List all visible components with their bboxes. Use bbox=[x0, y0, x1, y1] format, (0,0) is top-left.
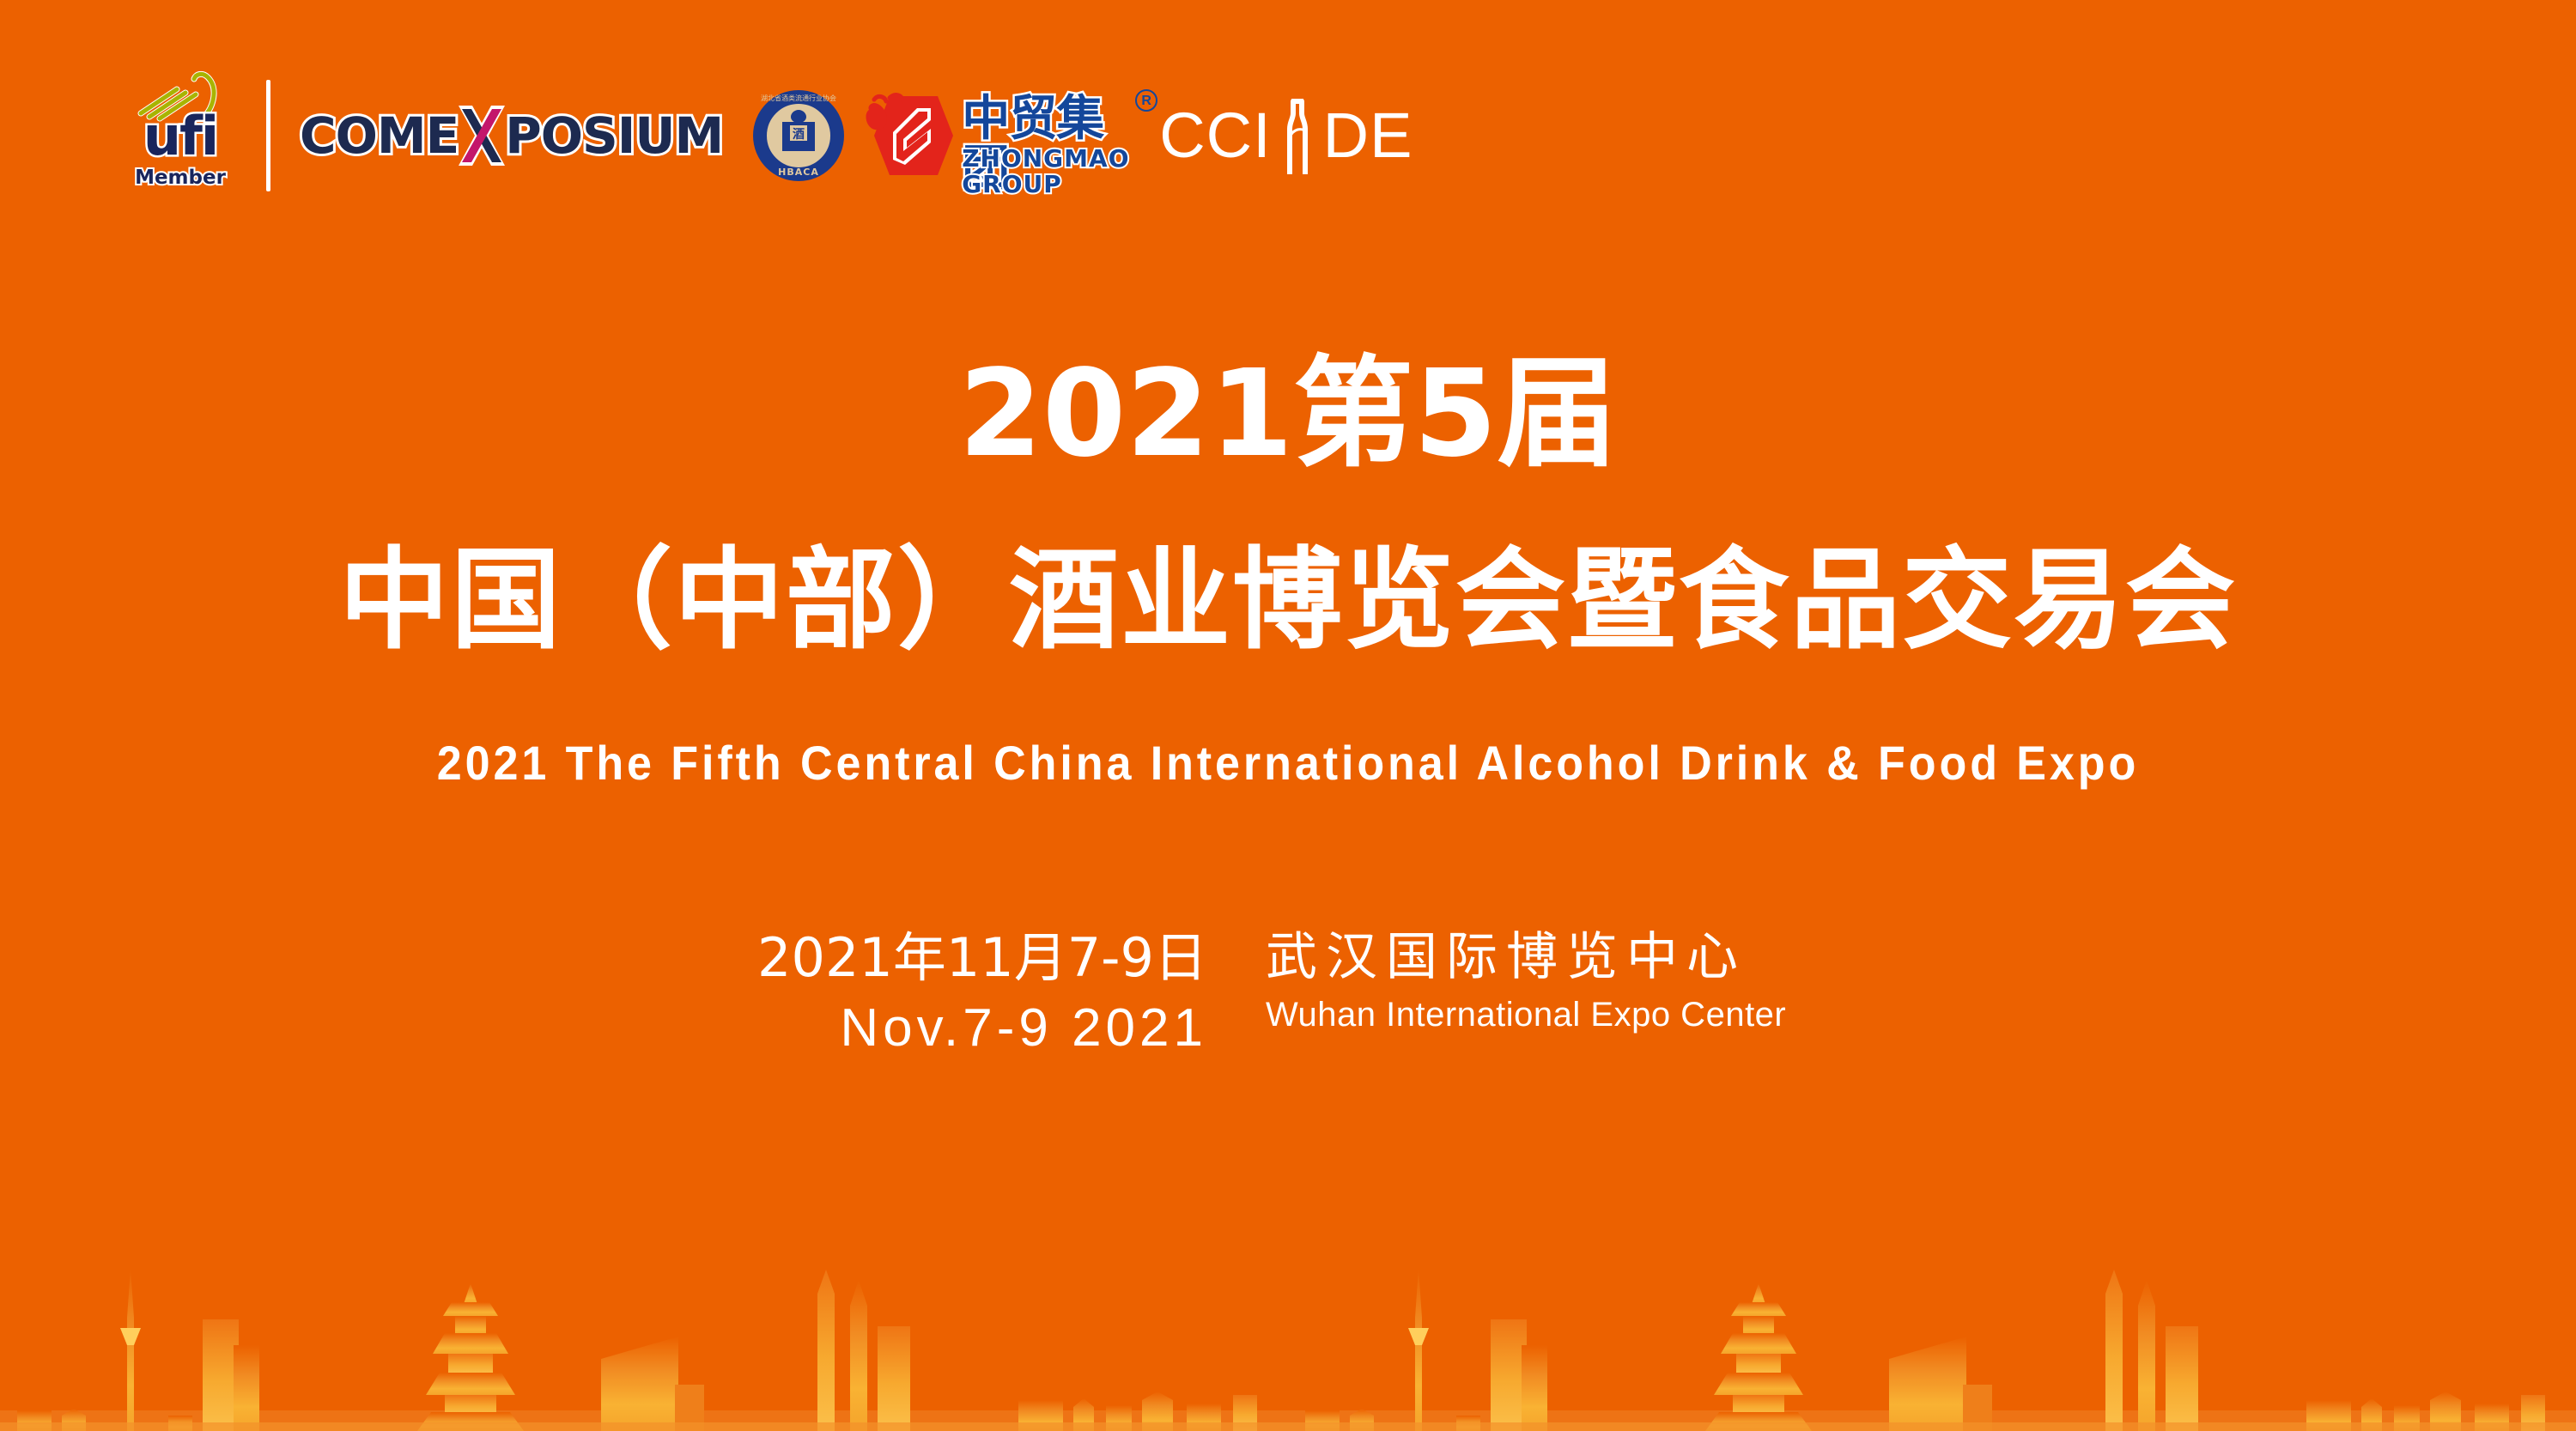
svg-text:湖北省酒类流通行业协会: 湖北省酒类流通行业协会 bbox=[761, 94, 836, 102]
edition-headline: 2021第5届 bbox=[0, 350, 2576, 479]
hbaca-seal-logo: 酒 HBACA 湖北省酒类流通行业协会 bbox=[752, 89, 845, 182]
expo-title-english: 2021 The Fifth Central China Internation… bbox=[90, 737, 2486, 790]
ox-head-hexagon-icon bbox=[864, 91, 957, 180]
comexposium-part2: POSIUM bbox=[505, 111, 723, 161]
comexposium-part1: COME bbox=[300, 111, 459, 161]
cciade-suffix: DE bbox=[1323, 104, 1413, 167]
svg-text:酒: 酒 bbox=[793, 128, 805, 142]
event-dates-block: 2021年11月7-9日 Nov.7-9 2021 bbox=[658, 923, 1207, 1064]
ufi-member-logo: ufi Member bbox=[129, 69, 232, 206]
skyline-graphic bbox=[0, 1216, 2576, 1431]
zhongmao-english: ZHONGMAO GROUP bbox=[962, 146, 1133, 197]
event-info-row: 2021年11月7-9日 Nov.7-9 2021 武汉国际博览中心 Wuhan… bbox=[0, 923, 2576, 1064]
cciade-prefix: CCI bbox=[1159, 104, 1271, 167]
event-venue-chinese: 武汉国际博览中心 bbox=[1266, 923, 1918, 991]
ufi-member-label: Member bbox=[129, 168, 232, 188]
event-date-chinese: 2021年11月7-9日 bbox=[658, 923, 1207, 993]
sponsor-logo-bar: ufi Member COME POSIUM bbox=[129, 90, 1413, 180]
zhongmao-group-logo: 中贸集团 ZHONGMAO GROUP R bbox=[864, 91, 1133, 180]
event-venue-block: 武汉国际博览中心 Wuhan International Expo Center bbox=[1266, 923, 1918, 1038]
comexposium-x-icon bbox=[455, 102, 508, 169]
registered-trademark-icon: R bbox=[1135, 89, 1157, 112]
event-date-english: Nov.7-9 2021 bbox=[658, 993, 1207, 1064]
svg-text:HBACA: HBACA bbox=[778, 167, 819, 178]
cciade-logo: CCI DE bbox=[1159, 94, 1413, 177]
wuhan-skyline-silhouette bbox=[0, 1216, 2576, 1431]
logo-divider bbox=[266, 80, 270, 191]
expo-poster: ufi Member COME POSIUM bbox=[0, 0, 2576, 1431]
bottle-letter-a-icon bbox=[1273, 94, 1322, 177]
event-venue-english: Wuhan International Expo Center bbox=[1266, 991, 1918, 1038]
comexposium-logo: COME POSIUM bbox=[300, 102, 723, 169]
zhongmao-wordmark: 中贸集团 ZHONGMAO GROUP R bbox=[962, 94, 1133, 177]
expo-title-chinese: 中国（中部）酒业博览会暨食品交易会 bbox=[0, 541, 2576, 661]
ufi-wordmark: ufi bbox=[129, 110, 232, 163]
